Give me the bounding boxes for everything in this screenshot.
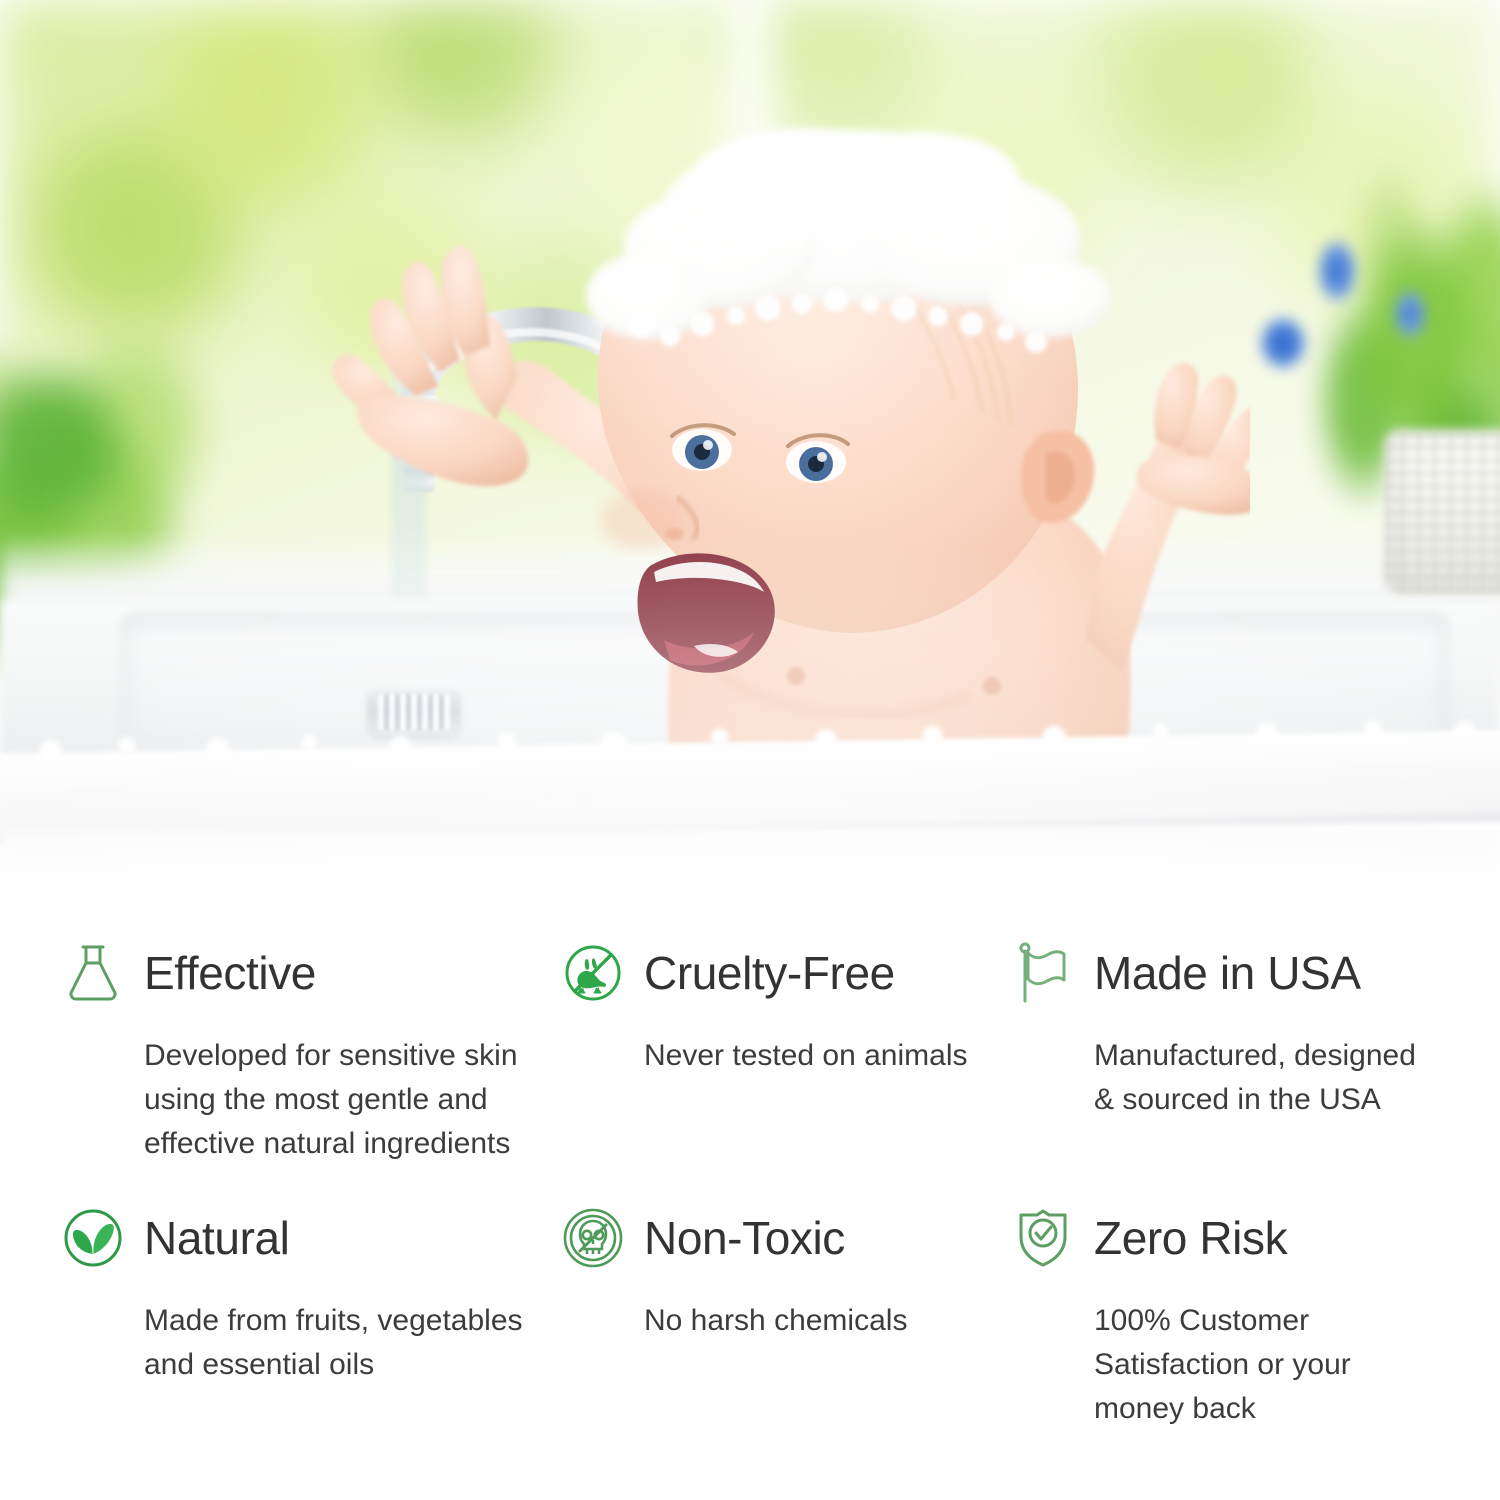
feature-benefits-section: Effective Developed for sensitive skin u… — [0, 930, 1500, 1500]
feature-header: Non-Toxic — [560, 1195, 990, 1281]
feature-title: Zero Risk — [1094, 1215, 1287, 1261]
feature-natural: Natural Made from fruits, vegetables and… — [60, 1195, 560, 1430]
feature-description: No harsh chemicals — [644, 1299, 990, 1343]
feature-description: 100% Customer Satisfaction or your money… — [1094, 1299, 1420, 1430]
leaf-circle-icon — [60, 1205, 126, 1271]
feature-cruelty-free: Cruelty-Free Never tested on animals — [560, 930, 1010, 1195]
flag-icon — [1010, 940, 1076, 1006]
feature-description: Developed for sensitive skin using the m… — [144, 1034, 524, 1165]
rabbit-no-icon — [560, 940, 626, 1006]
feature-title: Effective — [144, 950, 316, 996]
feature-header: Cruelty-Free — [560, 930, 990, 1016]
plant-pot-weave-texture — [1385, 432, 1500, 592]
feature-description: Made from fruits, vegetables and essenti… — [144, 1299, 524, 1387]
feature-grid: Effective Developed for sensitive skin u… — [60, 930, 1440, 1430]
feature-title: Cruelty-Free — [644, 950, 895, 996]
feature-title: Natural — [144, 1215, 290, 1261]
feature-header: Natural — [60, 1195, 540, 1281]
shield-check-icon — [1010, 1205, 1076, 1271]
feature-non-toxic: Non-Toxic No harsh chemicals — [560, 1195, 1010, 1430]
feature-made-in-usa: Made in USA Manufactured, designed & sou… — [1010, 930, 1440, 1195]
skull-no-icon — [560, 1205, 626, 1271]
feature-description: Manufactured, designed & sourced in the … — [1094, 1034, 1420, 1122]
feature-zero-risk: Zero Risk 100% Customer Satisfaction or … — [1010, 1195, 1440, 1430]
baby — [250, 120, 1250, 780]
blue-flower — [1320, 240, 1354, 302]
feature-header: Made in USA — [1010, 930, 1420, 1016]
blue-flower — [1396, 290, 1424, 338]
product-feature-page: Effective Developed for sensitive skin u… — [0, 0, 1500, 1500]
feature-title: Made in USA — [1094, 950, 1361, 996]
hero-photo — [0, 0, 1500, 900]
feature-description: Never tested on animals — [644, 1034, 990, 1078]
feature-header: Zero Risk — [1010, 1195, 1420, 1281]
counter-surface — [0, 830, 1500, 900]
blue-flower — [1262, 318, 1304, 368]
feature-header: Effective — [60, 930, 540, 1016]
feature-effective: Effective Developed for sensitive skin u… — [60, 930, 560, 1195]
flask-icon — [60, 940, 126, 1006]
feature-title: Non-Toxic — [644, 1215, 845, 1261]
